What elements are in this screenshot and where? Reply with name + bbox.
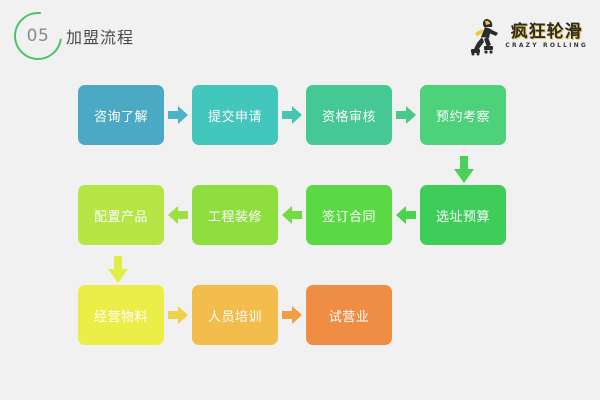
flow-node[interactable]: 人员培训 [192, 285, 278, 345]
flow-row-2: 配置产品工程装修签订合同选址预算 [78, 185, 506, 245]
arrow-down-glyph [452, 155, 476, 185]
flow-node[interactable]: 咨询了解 [78, 85, 164, 145]
arrow-right-glyph [167, 304, 189, 326]
brand-name-cn: 疯狂轮滑 [511, 24, 583, 41]
flow-arrow-left [392, 185, 420, 245]
flow-row-3: 经营物料人员培训试营业 [78, 285, 392, 345]
arrow-down-glyph [106, 255, 130, 285]
flow-arrow-left [164, 185, 192, 245]
section-number-label: 05 [14, 12, 62, 60]
flow-node[interactable]: 提交申请 [192, 85, 278, 145]
section-number-badge: 05 [14, 12, 62, 60]
flow-node[interactable]: 经营物料 [78, 285, 164, 345]
flow-arrow-right [164, 285, 192, 345]
arrow-right-glyph [395, 104, 417, 126]
flow-node[interactable]: 试营业 [306, 285, 392, 345]
flow-node[interactable]: 资格审核 [306, 85, 392, 145]
flow-node[interactable]: 配置产品 [78, 185, 164, 245]
flow-node[interactable]: 签订合同 [306, 185, 392, 245]
flow-node[interactable]: 预约考察 [420, 85, 506, 145]
flow-node[interactable]: 工程装修 [192, 185, 278, 245]
arrow-down-right-icon [452, 155, 476, 185]
arrow-down-left-icon [106, 255, 130, 285]
arrow-left-glyph [281, 204, 303, 226]
arrow-left-glyph [167, 204, 189, 226]
slide-header: 05 加盟流程 疯狂轮滑 CRAZY ROLL [0, 0, 600, 72]
roller-skater-icon [466, 16, 500, 56]
flow-arrow-right [164, 85, 192, 145]
arrow-right-glyph [281, 104, 303, 126]
flow-arrow-right [278, 85, 306, 145]
flow-chart: 咨询了解提交申请资格审核预约考察 配置产品工程装修签订合同选址预算 经营物料人员… [0, 72, 600, 372]
brand-text-block: 疯狂轮滑 CRAZY ROLLING [505, 24, 588, 49]
flow-arrow-right [278, 285, 306, 345]
brand-name-en: CRAZY ROLLING [505, 43, 588, 49]
arrow-left-glyph [395, 204, 417, 226]
arrow-right-glyph [281, 304, 303, 326]
arrow-right-glyph [167, 104, 189, 126]
brand-logo: 疯狂轮滑 CRAZY ROLLING [466, 14, 588, 58]
flow-row-1: 咨询了解提交申请资格审核预约考察 [78, 85, 506, 145]
flow-arrow-left [278, 185, 306, 245]
flow-node[interactable]: 选址预算 [420, 185, 506, 245]
flow-arrow-right [392, 85, 420, 145]
page-title: 加盟流程 [66, 24, 134, 48]
